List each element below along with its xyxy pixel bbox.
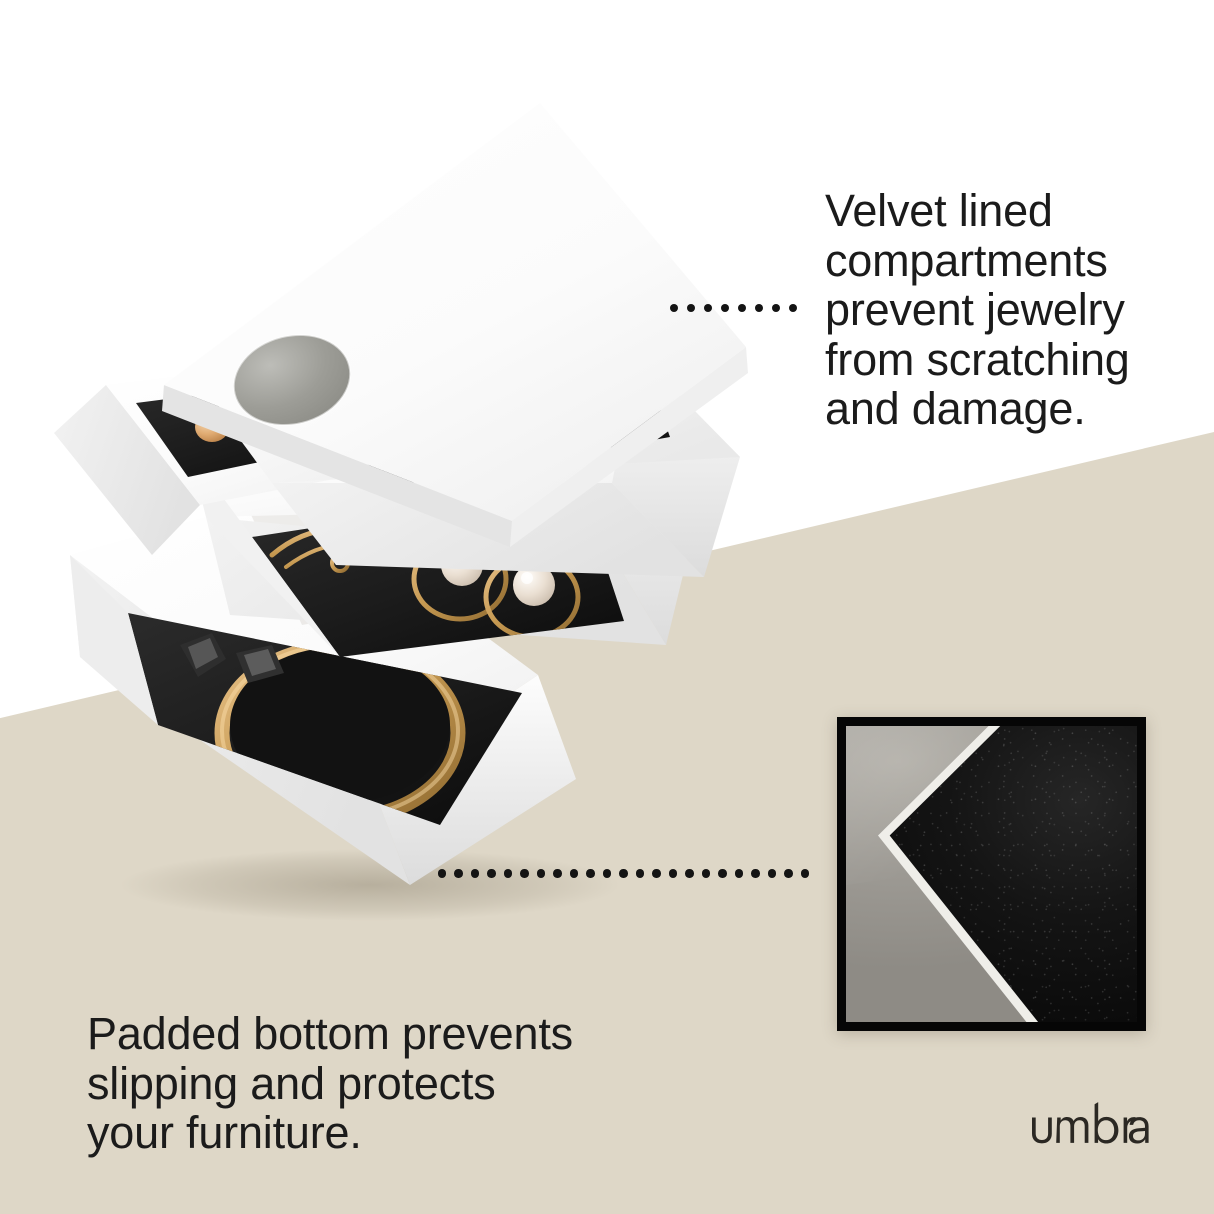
leader-dot — [520, 869, 528, 877]
leader-dot — [751, 869, 759, 877]
product-feature-image: Velvet lined compartments prevent jewelr… — [0, 0, 1214, 1214]
inset-photo-inner — [846, 726, 1137, 1022]
product-contact-shadow — [120, 849, 620, 921]
leader-dot — [669, 869, 677, 877]
leader-dot — [570, 869, 578, 877]
leader-dot — [718, 869, 726, 877]
leader-dot — [685, 869, 693, 877]
leader-dot — [784, 869, 792, 877]
leader-dot — [636, 869, 644, 877]
leader-dot — [619, 869, 627, 877]
leader-dot — [755, 304, 763, 312]
leader-line-velvet — [670, 302, 797, 314]
leader-dot — [471, 869, 479, 877]
leader-dot — [735, 869, 743, 877]
umbra-logo — [1030, 1100, 1150, 1148]
leader-line-padded — [438, 867, 809, 880]
leader-dot — [772, 304, 780, 312]
inset-detail-photo-padded-bottom — [837, 717, 1146, 1031]
leader-dot — [537, 869, 545, 877]
leader-dot — [603, 869, 611, 877]
leader-dot — [504, 869, 512, 877]
leader-dot — [454, 869, 462, 877]
leader-dot — [789, 304, 797, 312]
leader-dot — [768, 869, 776, 877]
leader-dot — [670, 304, 678, 312]
callout-text-velvet: Velvet lined compartments prevent jewelr… — [825, 186, 1195, 434]
leader-dot — [553, 869, 561, 877]
leader-dot — [704, 304, 712, 312]
callout-text-padded: Padded bottom prevents slipping and prot… — [87, 1009, 617, 1158]
leader-dot — [586, 869, 594, 877]
leader-dot — [738, 304, 746, 312]
umbra-wordmark-glyphs — [1032, 1102, 1149, 1143]
product-photo-jewelry-box-stack — [40, 85, 780, 915]
leader-dot — [652, 869, 660, 877]
leader-dot — [438, 869, 446, 877]
leader-dot — [487, 869, 495, 877]
leader-dot — [721, 304, 729, 312]
leader-dot — [801, 869, 809, 877]
leader-dot — [687, 304, 695, 312]
leader-dot — [702, 869, 710, 877]
